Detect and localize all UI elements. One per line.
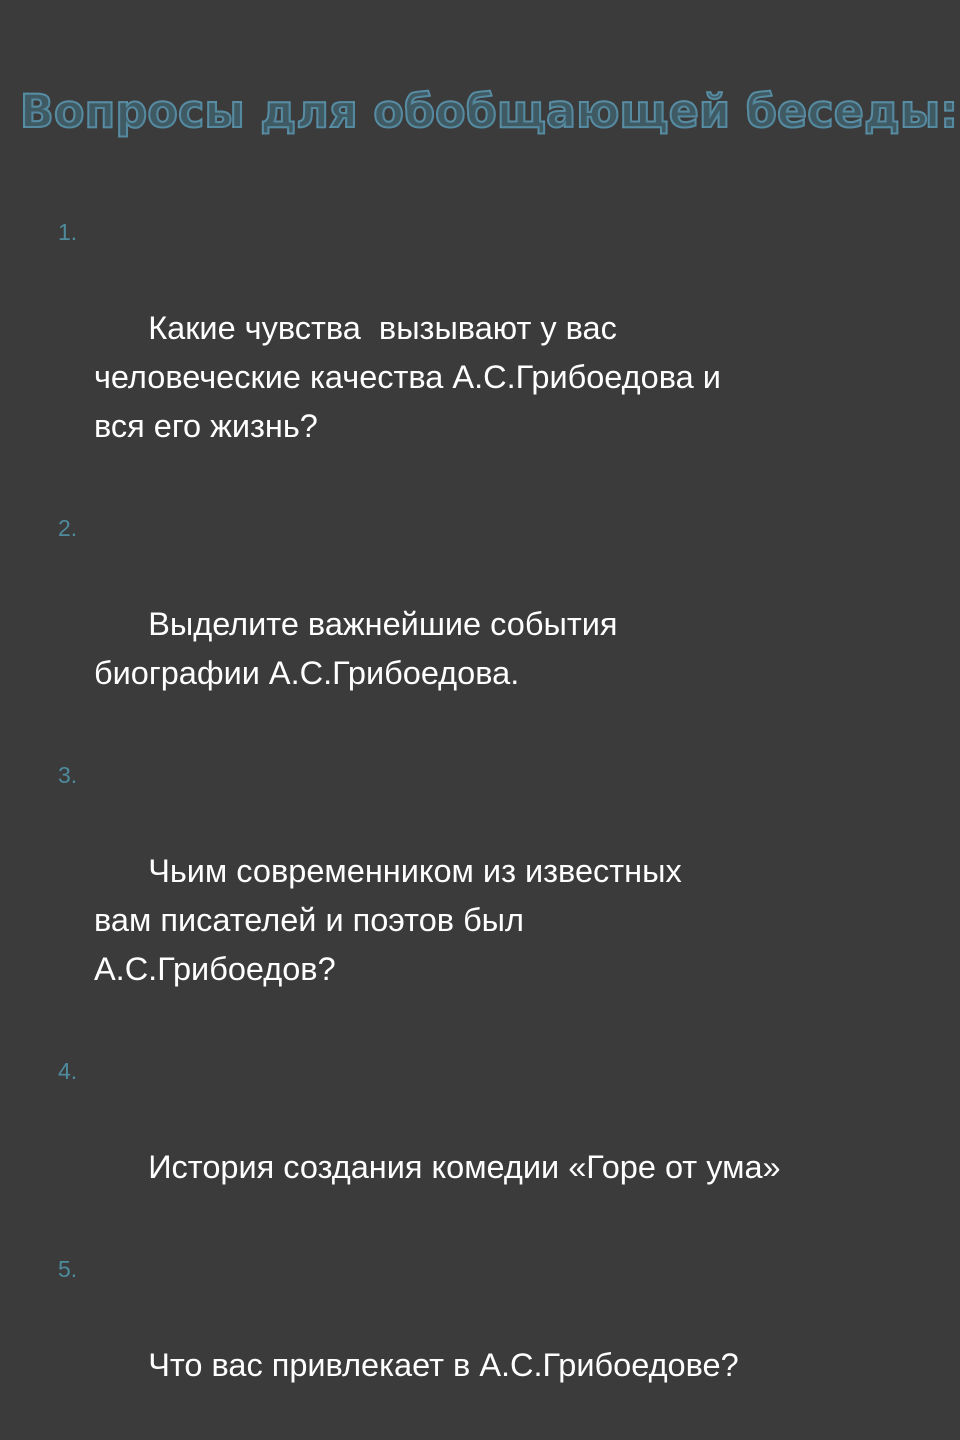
list-item-number: 1.: [58, 208, 92, 257]
list-item-text: История создания комедии «Горе от ума»: [148, 1149, 780, 1185]
list-item-text: Какие чувства вызывают у вас человечески…: [94, 310, 730, 444]
list-item-number: 3.: [58, 751, 92, 800]
list-item: 1. Какие чувства вызывают у вас человече…: [58, 206, 734, 500]
slide-title-block: Вопросы для обобщающей беседы:: [20, 84, 940, 154]
question-list: 1. Какие чувства вызывают у вас человече…: [58, 206, 930, 1440]
list-item-number: 2.: [58, 504, 92, 553]
list-item: 2. Выделите важнейшие события биографии …: [58, 502, 734, 747]
list-item-number: 5.: [58, 1245, 92, 1294]
presentation-slide: Вопросы для обобщающей беседы: 1. Какие …: [0, 0, 960, 720]
list-item: 4. История создания комедии «Горе от ума…: [58, 1045, 930, 1241]
list-item-text: Выделите важнейшие события биографии А.С…: [94, 606, 627, 691]
list-item-number: 4.: [58, 1047, 92, 1096]
list-item: 3. Чьим современником из известных вам п…: [58, 749, 734, 1043]
list-item-text: Чьим современником из известных вам писа…: [94, 853, 691, 987]
page-title: Вопросы для обобщающей беседы:: [20, 84, 926, 140]
list-item-text: Что вас привлекает в А.С.Грибоедове?: [148, 1347, 739, 1383]
list-item: 5. Что вас привлекает в А.С.Грибоедове?: [58, 1243, 930, 1439]
